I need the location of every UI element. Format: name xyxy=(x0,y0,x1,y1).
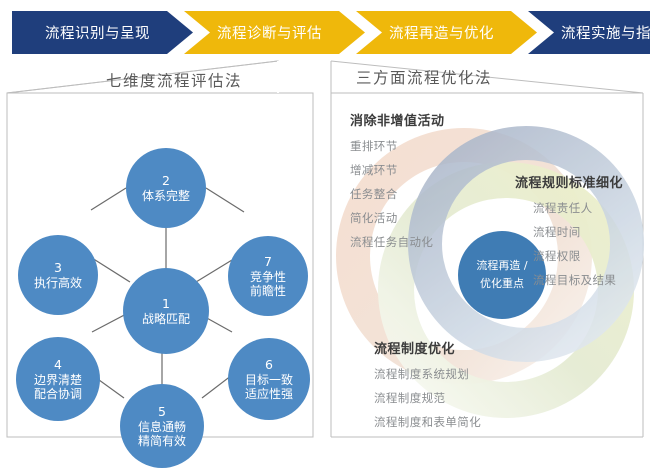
process-step-3[interactable]: 流程再造与优化 xyxy=(356,11,537,54)
node-7[interactable]: 7 竞争性 前瞻性 xyxy=(228,236,308,316)
group-2-item-4: 流程目标及结果 xyxy=(533,272,623,288)
node-4-label-2: 配合协调 xyxy=(34,387,82,401)
node-7-number: 7 xyxy=(264,254,272,270)
node-6-label-1: 目标一致 xyxy=(245,373,293,387)
node-4[interactable]: 4 边界清楚 配合协调 xyxy=(16,337,100,421)
node-4-label-1: 边界清楚 xyxy=(34,373,82,387)
group-1-item-2: 增减环节 xyxy=(350,162,445,178)
right-panel-title: 三方面流程优化法 xyxy=(356,66,492,88)
node-6-number: 6 xyxy=(265,357,273,373)
node-5-label-1: 信息通畅 xyxy=(138,420,186,434)
process-arrow-band: 流程识别与呈现 流程诊断与评估 流程再造与优化 流程实施与指导 xyxy=(12,11,640,54)
node-6[interactable]: 6 目标一致 适应性强 xyxy=(228,338,310,420)
group-1-item-5: 流程任务自动化 xyxy=(350,234,445,250)
node-2-label-1: 体系完整 xyxy=(142,189,190,203)
group-rule-standardization: 流程规则标准细化 流程责任人 流程时间 流程权限 流程目标及结果 xyxy=(515,172,623,296)
group-2-item-3: 流程权限 xyxy=(533,248,623,264)
node-2[interactable]: 2 体系完整 xyxy=(126,148,206,228)
three-aspects-diagram: 流程再造 / 优化重点 消除非增值活动 重排环节 增减环节 任务整合 简化活动 … xyxy=(330,94,644,438)
node-3-label-1: 执行高效 xyxy=(34,276,82,290)
node-6-label-2: 适应性强 xyxy=(245,387,293,401)
group-2-item-2: 流程时间 xyxy=(533,224,623,240)
process-step-2-label: 流程诊断与评估 xyxy=(217,22,332,43)
node-3[interactable]: 3 执行高效 xyxy=(18,235,98,315)
group-3-heading: 流程制度优化 xyxy=(374,338,481,357)
slide-root: 流程识别与呈现 流程诊断与评估 流程再造与优化 流程实施与指导 七维度流程评估法 xyxy=(0,0,650,445)
group-1-item-1: 重排环节 xyxy=(350,138,445,154)
group-3-item-2: 流程制度规范 xyxy=(374,390,481,406)
group-system-optimization: 流程制度优化 流程制度系统规划 流程制度规范 流程制度和表单简化 xyxy=(374,338,481,438)
group-3-item-1: 流程制度系统规划 xyxy=(374,366,481,382)
process-step-1-label: 流程识别与呈现 xyxy=(45,22,160,43)
node-7-label-2: 前瞻性 xyxy=(250,284,286,298)
right-panel: 三方面流程优化法 xyxy=(330,60,644,438)
process-step-3-label: 流程再造与优化 xyxy=(389,22,504,43)
group-1-item-3: 任务整合 xyxy=(350,186,445,202)
process-step-4[interactable]: 流程实施与指导 xyxy=(528,11,650,54)
process-step-4-label: 流程实施与指导 xyxy=(561,22,650,43)
node-2-number: 2 xyxy=(162,173,170,189)
node-4-number: 4 xyxy=(54,357,62,373)
node-1-label-1: 战略匹配 xyxy=(142,312,190,326)
group-2-heading: 流程规则标准细化 xyxy=(515,172,623,191)
node-1[interactable]: 1 战略匹配 xyxy=(123,268,209,354)
node-5-label-2: 精简有效 xyxy=(138,434,186,448)
process-step-2[interactable]: 流程诊断与评估 xyxy=(184,11,365,54)
node-5-number: 5 xyxy=(158,404,166,420)
left-panel: 七维度流程评估法 xyxy=(6,60,314,438)
process-step-1[interactable]: 流程识别与呈现 xyxy=(12,11,193,54)
group-2-item-1: 流程责任人 xyxy=(533,200,623,216)
node-1-number: 1 xyxy=(162,296,170,312)
group-1-heading: 消除非增值活动 xyxy=(350,110,445,129)
group-3-item-3: 流程制度和表单简化 xyxy=(374,414,481,430)
node-7-label-1: 竞争性 xyxy=(250,270,286,284)
node-5[interactable]: 5 信息通畅 精简有效 xyxy=(120,384,204,468)
heptagon-diagram: 2 体系完整 3 执行高效 7 竞争性 前瞻性 1 战略匹配 4 xyxy=(6,60,314,438)
group-eliminate-nonvalue: 消除非增值活动 重排环节 增减环节 任务整合 简化活动 流程任务自动化 xyxy=(350,110,445,258)
group-1-item-4: 简化活动 xyxy=(350,210,445,226)
node-3-number: 3 xyxy=(54,260,62,276)
